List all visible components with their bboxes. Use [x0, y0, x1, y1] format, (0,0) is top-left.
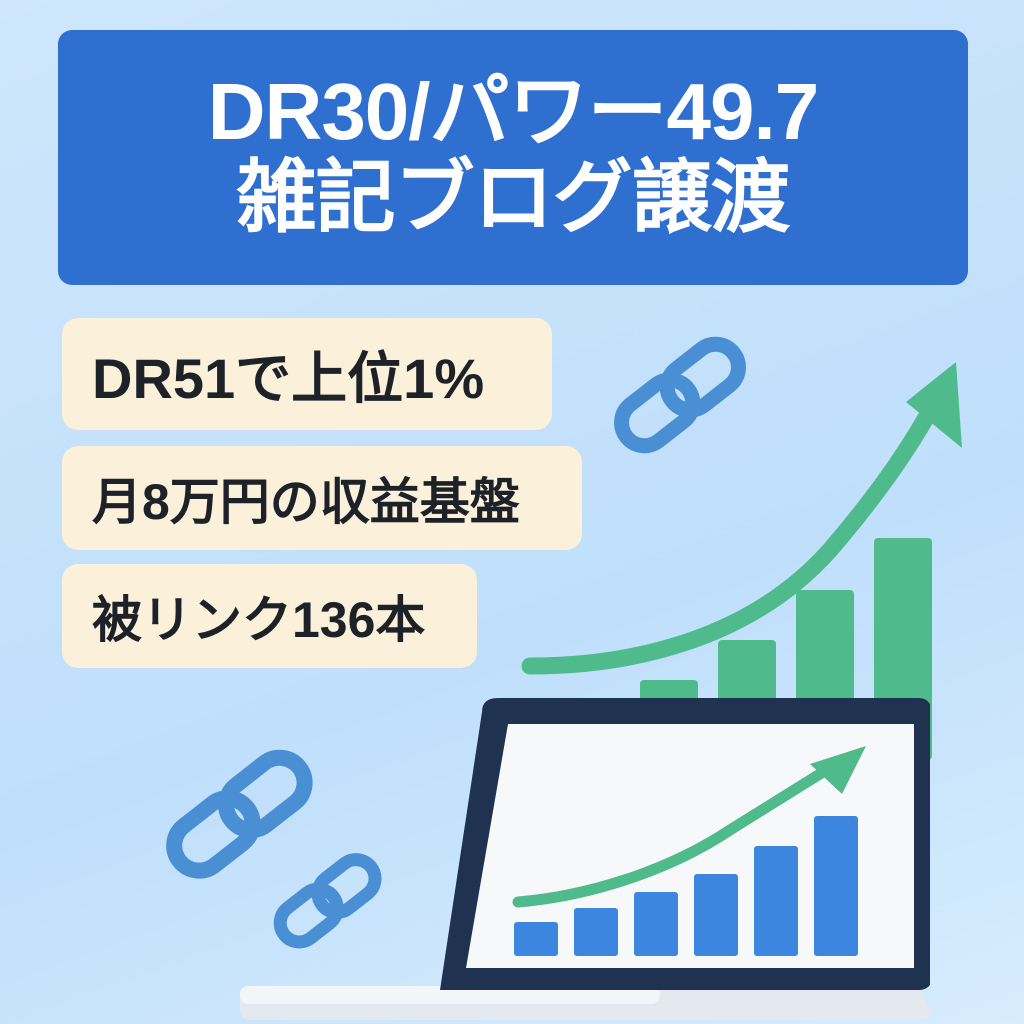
poster-canvas: DR30/パワー49.7 雑記ブログ譲渡 DR51で上位1% 月8万円の収益基盤… — [0, 0, 1024, 1024]
screen-bar-3 — [634, 892, 678, 956]
feature-chip-2: 月8万円の収益基盤 — [62, 446, 582, 550]
feature-chip-1: DR51で上位1% — [62, 318, 552, 430]
screen-bar-1 — [514, 922, 558, 956]
title-line-1: DR30/パワー49.7 — [208, 69, 818, 155]
feature-chip-3: 被リンク136本 — [62, 564, 477, 668]
title-banner: DR30/パワー49.7 雑記ブログ譲渡 — [58, 30, 968, 285]
screen-bar-5 — [754, 846, 798, 956]
screen-bar-6 — [814, 816, 858, 956]
feature-chip-3-label: 被リンク136本 — [92, 580, 425, 652]
feature-chip-2-label: 月8万円の収益基盤 — [92, 462, 520, 534]
laptop-illustration — [230, 690, 930, 1024]
title-line-2: 雑記ブログ譲渡 — [237, 155, 790, 241]
screen-bar-4 — [694, 874, 738, 956]
feature-chip-1-label: DR51で上位1% — [92, 334, 484, 415]
chain-link-icon-top — [600, 320, 760, 470]
screen-bar-2 — [574, 908, 618, 956]
